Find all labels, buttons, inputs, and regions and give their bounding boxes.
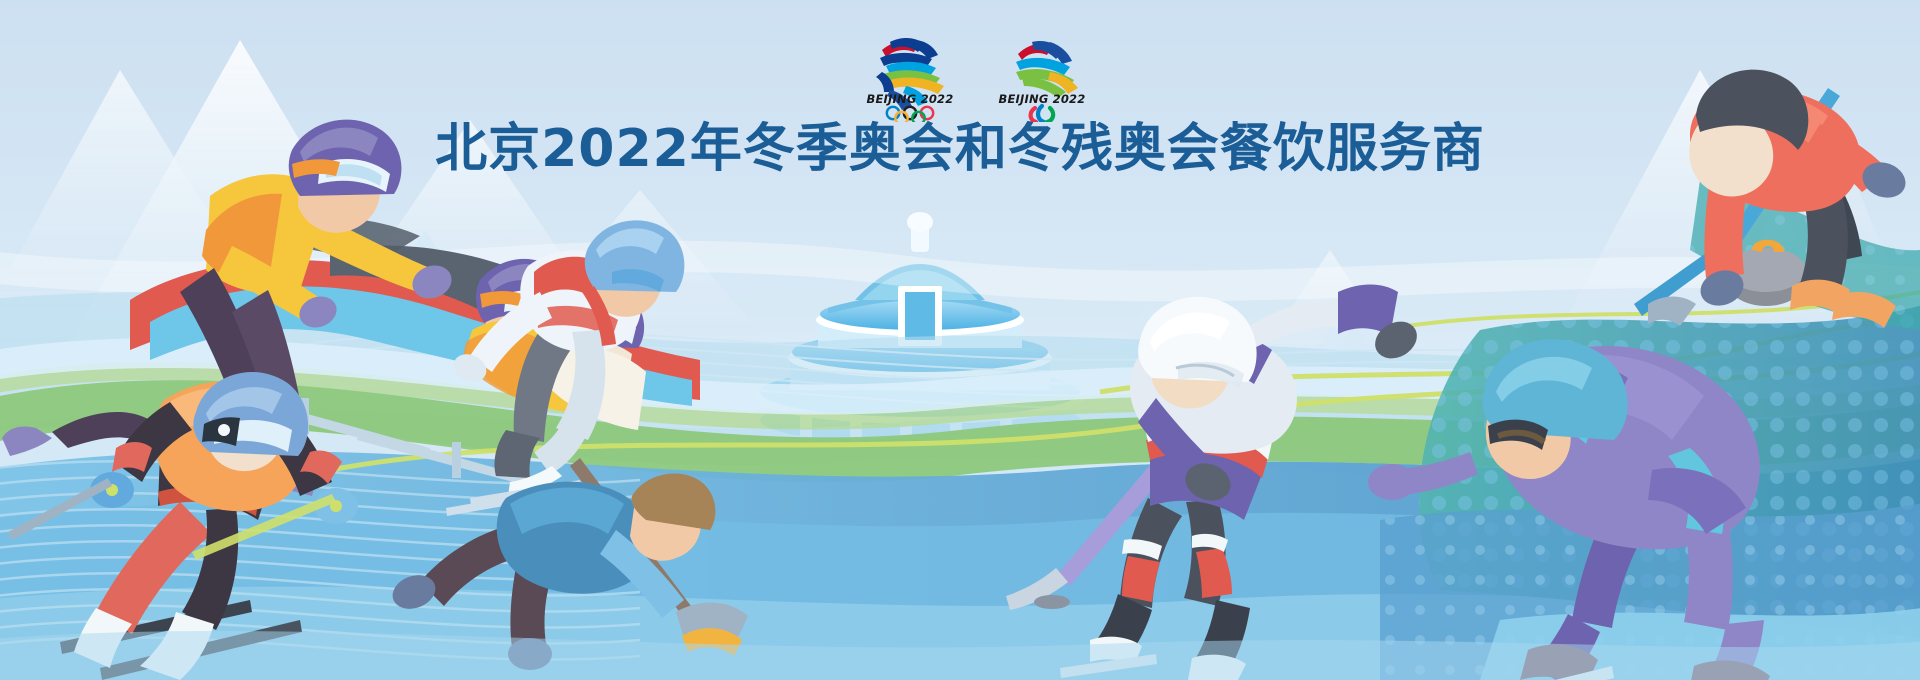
title-block: 北京2022年冬季奥会和冬残奥会餐饮服务商: [0, 122, 1920, 177]
olympic-wordmark: BEIJING 2022: [867, 92, 954, 106]
paralympic-emblem-graphic: BEIJING 2022: [992, 28, 1092, 122]
olympic-emblem-graphic: BEIJING 2022: [860, 28, 960, 122]
paralympic-emblem[interactable]: BEIJING 2022: [992, 28, 1090, 120]
flying-ribbon-icon: [1016, 41, 1078, 98]
emblem-row: BEIJING 2022: [860, 28, 1090, 120]
page-title: 北京2022年冬季奥会和冬残奥会餐饮服务商: [435, 122, 1485, 177]
beijing-2022-banner: BEIJING 2022: [0, 0, 1920, 680]
olympic-emblem[interactable]: BEIJING 2022: [860, 28, 958, 120]
